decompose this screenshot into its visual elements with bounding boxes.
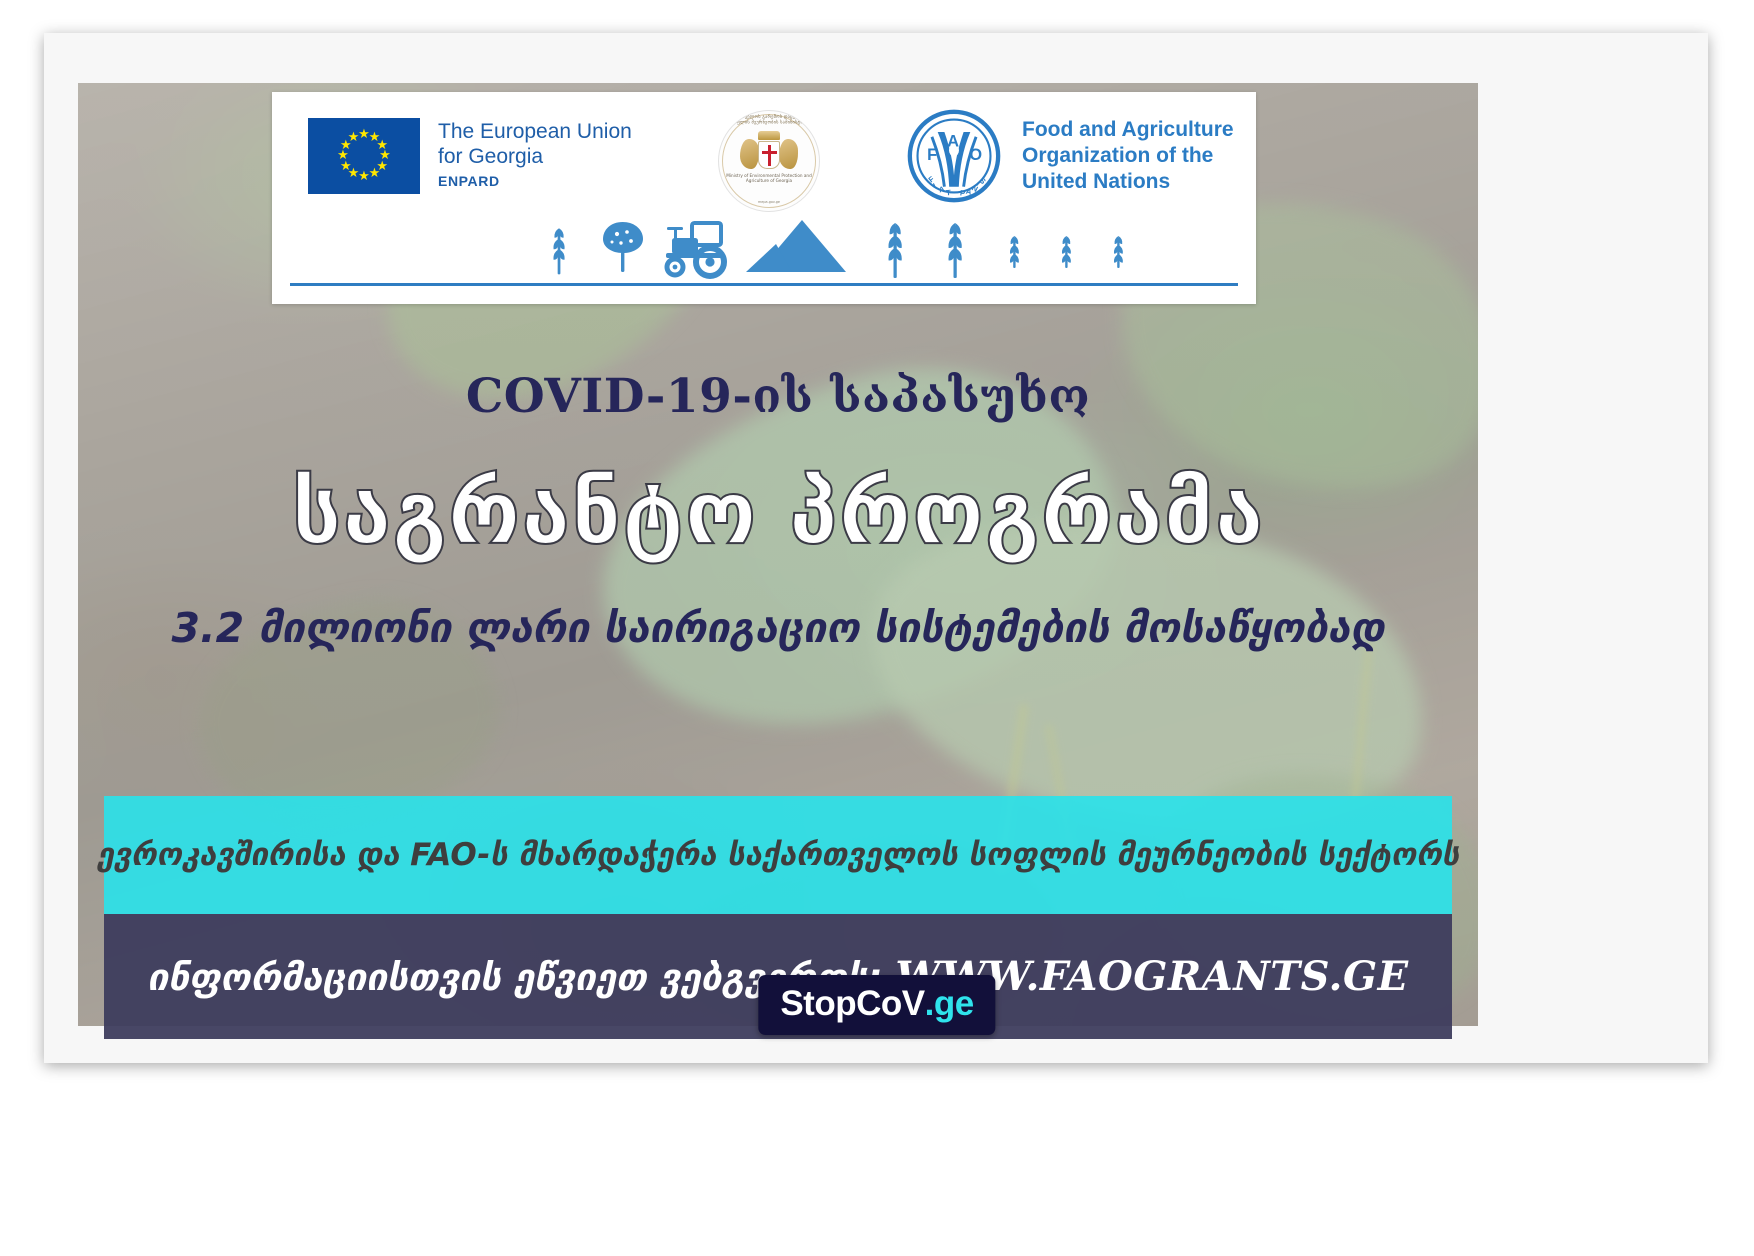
lion-icon	[740, 139, 759, 169]
fao-name-line1: Food and Agriculture	[1022, 117, 1234, 143]
wheat-icon	[553, 228, 564, 274]
subtitle: 3.2 მილიონი ლარი საირიგაციო სისტემების მ…	[78, 604, 1478, 652]
mountain-icon	[746, 220, 846, 272]
fao-name-line2: Organization of the	[1022, 143, 1234, 169]
svg-text:A: A	[947, 132, 959, 150]
svg-text:F: F	[927, 146, 937, 164]
enpard-label: ENPARD	[438, 173, 632, 189]
wheat-icon	[949, 223, 962, 278]
seal-footer: mepa.gov.ge	[719, 200, 819, 204]
poster-slide: ★★★★★★★★★★★★ The European Union for Geor…	[0, 0, 1754, 1256]
eu-star-icon: ★	[358, 171, 370, 183]
cross-horizontal	[762, 151, 777, 154]
svg-text:O: O	[969, 146, 982, 164]
shield-icon	[758, 141, 780, 169]
badge-part-cov: CoV	[856, 984, 925, 1024]
lion-icon	[779, 139, 798, 169]
fao-logo: F A O F I A T P A N I S Food and Agricul…	[906, 108, 1234, 204]
crown-icon	[758, 131, 780, 140]
fruit-tree-icon	[603, 222, 643, 272]
badge-part-ge: .ge	[925, 984, 974, 1024]
pictogram-row	[290, 212, 1238, 282]
cyan-band-text: ევროკავშირისა და FAO-ს მხარდაჭერა საქართ…	[75, 837, 1481, 873]
eu-logo-line2: for Georgia	[438, 144, 632, 169]
svg-text:I: I	[932, 181, 938, 190]
seal-caption: Ministry of Environmental Protection and…	[719, 173, 819, 184]
cross-vertical	[768, 145, 771, 166]
enpard-pictogram-band	[290, 212, 1238, 286]
wheat-icon	[1114, 236, 1123, 268]
svg-text:T: T	[946, 188, 952, 197]
cyan-message-band: ევროკავშირისა და FAO-ს მხარდაჭერა საქართ…	[104, 796, 1452, 914]
pictogram-baseline	[290, 283, 1238, 286]
wheat-icon	[1010, 236, 1019, 268]
fao-emblem-icon: F A O F I A T P A N I S	[906, 108, 1002, 204]
stopcov-badge[interactable]: StopCoV.ge	[758, 975, 995, 1035]
tractor-icon	[666, 223, 724, 276]
georgia-ministry-seal-icon: საქართველოს გარემოს დაცვისა და სოფლის მე…	[718, 110, 820, 212]
badge-part-stop: Stop	[780, 984, 856, 1024]
eyebrow-heading: COVID-19-ის საპასუხო	[78, 369, 1478, 424]
wheat-icon	[889, 223, 902, 278]
eu-logo-line1: The European Union	[438, 119, 632, 144]
fao-name-line3: United Nations	[1022, 169, 1234, 195]
eu-star-icon: ★	[369, 168, 381, 180]
partner-logo-strip: ★★★★★★★★★★★★ The European Union for Geor…	[272, 92, 1256, 304]
wheat-icon	[1062, 236, 1071, 268]
seal-arc-text: საქართველოს გარემოს დაცვისა და სოფლის მე…	[719, 115, 819, 126]
eu-star-icon: ★	[348, 132, 360, 144]
eu-flag-icon: ★★★★★★★★★★★★	[308, 118, 420, 194]
page-title: საგრანტო პროგრამა	[78, 465, 1478, 561]
eu-logo: ★★★★★★★★★★★★ The European Union for Geor…	[308, 118, 632, 194]
